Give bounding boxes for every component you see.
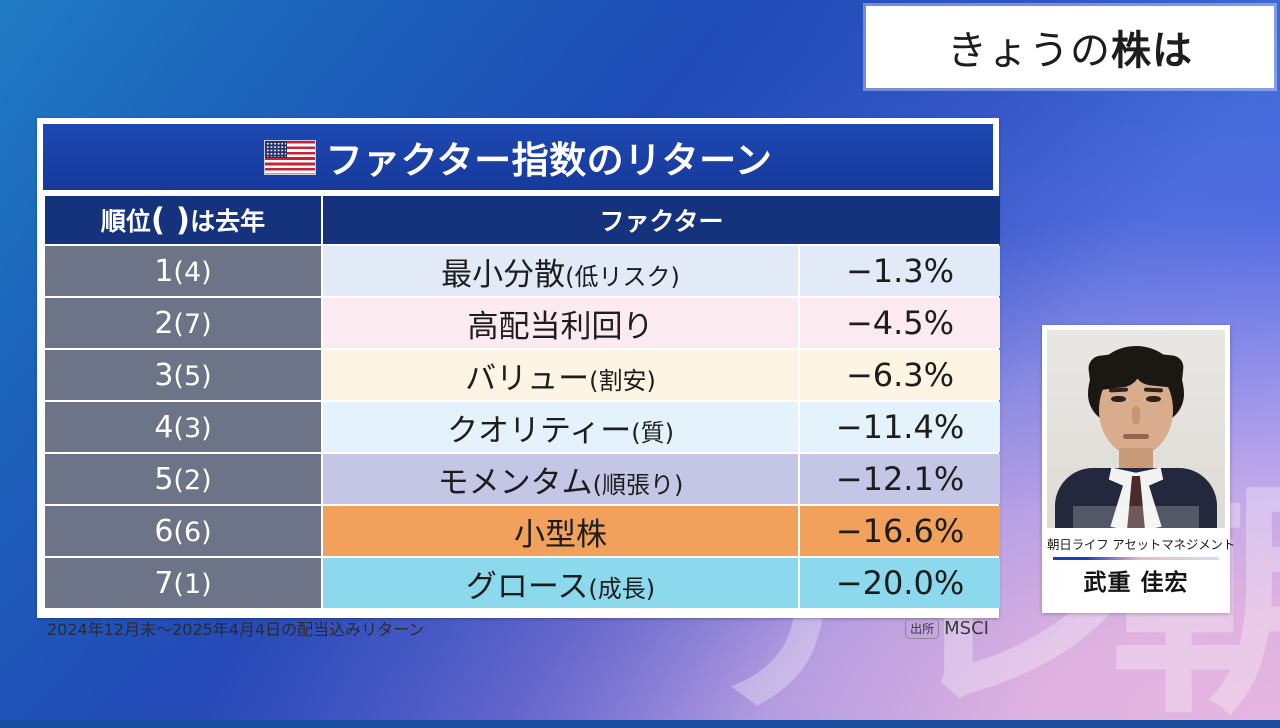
factor-note: (順張り) [593, 471, 684, 499]
banner-title: きょうの株は [947, 18, 1193, 76]
rank-previous-year: (6) [173, 517, 211, 548]
presenter-photo [1047, 330, 1225, 528]
source-note: 2024年12月末〜2025年4月4日の配当込みリターン [47, 616, 424, 640]
rank-value: 6 [154, 514, 173, 549]
factor-name: 最小分散 [441, 257, 565, 293]
table-row: 1(4)最小分散(低リスク)−1.3% [45, 246, 1000, 296]
cell-return-value: −16.6% [800, 506, 1000, 556]
factor-name: モメンタム [438, 465, 593, 501]
cell-rank: 3(5) [45, 350, 321, 400]
rank-value: 4 [154, 410, 173, 445]
rank-previous-year: (5) [173, 361, 211, 392]
cell-rank: 4(3) [45, 402, 321, 452]
cell-rank: 6(6) [45, 506, 321, 556]
cell-factor: モメンタム(順張り) [323, 454, 798, 504]
banner-text-bold: 株は [1111, 28, 1193, 74]
factor-return-table: 順位( )は去年 ファクター 1(4)最小分散(低リスク)−1.3%2(7)高配… [43, 194, 1002, 610]
cell-return-value: −12.1% [800, 454, 1000, 504]
cell-return-value: −4.5% [800, 298, 1000, 348]
cell-return-value: −6.3% [800, 350, 1000, 400]
cell-rank: 5(2) [45, 454, 321, 504]
cell-return-value: −20.0% [800, 558, 1000, 608]
factor-note: (成長) [588, 575, 655, 603]
cell-factor: 高配当利回り [323, 298, 798, 348]
presenter-name: 武重 佳宏 [1047, 563, 1225, 597]
factor-note: (質) [631, 419, 674, 447]
table-row: 6(6)小型株−16.6% [45, 506, 1000, 556]
card-footer: 2024年12月末〜2025年4月4日の配当込みリターン 出所 MSCI [43, 610, 993, 644]
cell-rank: 2(7) [45, 298, 321, 348]
rank-previous-year: (4) [173, 257, 211, 288]
table-row: 2(7)高配当利回り−4.5% [45, 298, 1000, 348]
table-row: 7(1)グロース(成長)−20.0% [45, 558, 1000, 608]
cell-factor: 小型株 [323, 506, 798, 556]
source-name: MSCI [944, 618, 989, 639]
table-row: 4(3)クオリティー(質)−11.4% [45, 402, 1000, 452]
card-title: ファクター指数のリターン [326, 130, 773, 184]
rank-previous-year: (3) [173, 413, 211, 444]
header-rank-paren: ( ) [151, 202, 190, 238]
presenter-divider [1053, 557, 1219, 560]
card-title-bar: ファクター指数のリターン [43, 124, 993, 190]
table-row: 5(2)モメンタム(順張り)−12.1% [45, 454, 1000, 504]
table-header-row: 順位( )は去年 ファクター [45, 196, 1000, 244]
cell-return-value: −11.4% [800, 402, 1000, 452]
rank-value: 1 [154, 254, 173, 289]
cell-rank: 1(4) [45, 246, 321, 296]
cell-factor: 最小分散(低リスク) [323, 246, 798, 296]
factor-name: クオリティー [447, 413, 631, 449]
program-segment-banner: きょうの株は [866, 6, 1274, 88]
header-rank: 順位( )は去年 [45, 196, 321, 244]
header-rank-post: は去年 [190, 207, 265, 236]
cell-factor: グロース(成長) [323, 558, 798, 608]
header-rank-pre: 順位 [101, 207, 151, 236]
factor-name: バリュー [465, 361, 589, 397]
rank-value: 2 [154, 306, 173, 341]
factor-name: 高配当利回り [468, 309, 654, 345]
table-body: 1(4)最小分散(低リスク)−1.3%2(7)高配当利回り−4.5%3(5)バリ… [45, 246, 1000, 608]
cell-factor: バリュー(割安) [323, 350, 798, 400]
factor-name: 小型株 [514, 517, 607, 553]
source-attribution: 出所 MSCI [905, 618, 989, 639]
presenter-card: 朝日ライフ アセットマネジメント 武重 佳宏 [1042, 325, 1230, 613]
cell-return-value: −1.3% [800, 246, 1000, 296]
rank-previous-year: (2) [173, 465, 211, 496]
rank-value: 7 [154, 566, 173, 601]
banner-text-plain: きょうの [947, 28, 1111, 74]
rank-value: 5 [154, 462, 173, 497]
rank-previous-year: (7) [173, 309, 211, 340]
cell-factor: クオリティー(質) [323, 402, 798, 452]
factor-note: (低リスク) [565, 263, 680, 291]
cell-rank: 7(1) [45, 558, 321, 608]
factor-return-table-card: ファクター指数のリターン 順位( )は去年 ファクター 1(4)最小分散(低リス… [37, 118, 999, 618]
factor-note: (割安) [589, 367, 656, 395]
factor-name: グロース [466, 569, 588, 605]
presenter-company: 朝日ライフ アセットマネジメント [1047, 534, 1225, 553]
table-row: 3(5)バリュー(割安)−6.3% [45, 350, 1000, 400]
rank-previous-year: (1) [173, 569, 211, 600]
header-factor: ファクター [323, 196, 1000, 244]
rank-value: 3 [154, 358, 173, 393]
source-tag: 出所 [905, 618, 939, 639]
us-flag-icon [264, 140, 316, 175]
